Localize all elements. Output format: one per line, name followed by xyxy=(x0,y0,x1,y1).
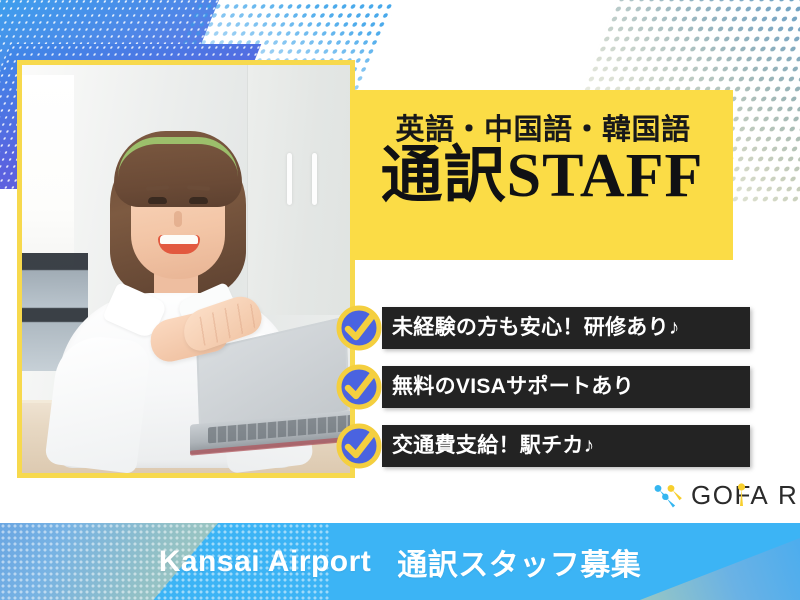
list-item: 未経験の方も安心！研修あり♪ xyxy=(336,307,756,354)
photo-person-eye-right xyxy=(189,197,208,204)
headline-role: 通訳STAFF xyxy=(358,144,726,209)
feature-label: 無料のVISAサポートあり xyxy=(392,366,634,408)
feature-list: 未経験の方も安心！研修あり♪ 無料のVISAサポートあり 交通費支給！駅チカ♪ xyxy=(336,307,756,484)
footer-text: Kansai Airport 通訳スタッフ募集 xyxy=(0,523,800,600)
list-item: 交通費支給！駅チカ♪ xyxy=(336,425,756,472)
check-circle-icon xyxy=(336,423,382,469)
check-circle-icon xyxy=(336,305,382,351)
photo-person-mouth xyxy=(158,235,200,254)
check-circle-icon xyxy=(336,364,382,410)
photo-person-nose xyxy=(174,211,182,227)
feature-label: 交通費支給！駅チカ♪ xyxy=(392,425,595,467)
photo-cabinet-handle xyxy=(312,153,317,205)
gofair-pin-mark-icon xyxy=(653,480,687,510)
photo-cabinet xyxy=(247,65,350,315)
headline-banner: 英語・中国語・韓国語 通訳STAFF xyxy=(350,90,733,260)
photo-window xyxy=(22,75,74,265)
gofair-logo: GOFAIR xyxy=(653,478,783,514)
photo-cabinet-handle xyxy=(287,153,292,205)
logo-pin-icon xyxy=(737,483,746,507)
feature-label: 未経験の方も安心！研修あり♪ xyxy=(392,307,680,349)
footer-banner: Kansai Airport 通訳スタッフ募集 xyxy=(0,523,800,600)
hero-photo-frame xyxy=(17,60,355,478)
footer-text-english: Kansai Airport xyxy=(159,545,372,579)
gofair-wordmark-before: GOFA xyxy=(691,480,769,510)
photo-person-headband xyxy=(118,137,238,177)
poster-canvas: 英語・中国語・韓国語 通訳STAFF 未経験の方も安心！研修あり♪ 無料のVIS… xyxy=(0,0,800,600)
gofair-wordmark-after: R xyxy=(778,480,798,510)
list-item: 無料のVISAサポートあり xyxy=(336,366,756,413)
photo-person-eye-left xyxy=(148,197,167,204)
footer-text-japanese: 通訳スタッフ募集 xyxy=(397,540,641,584)
hero-photo xyxy=(22,65,350,473)
